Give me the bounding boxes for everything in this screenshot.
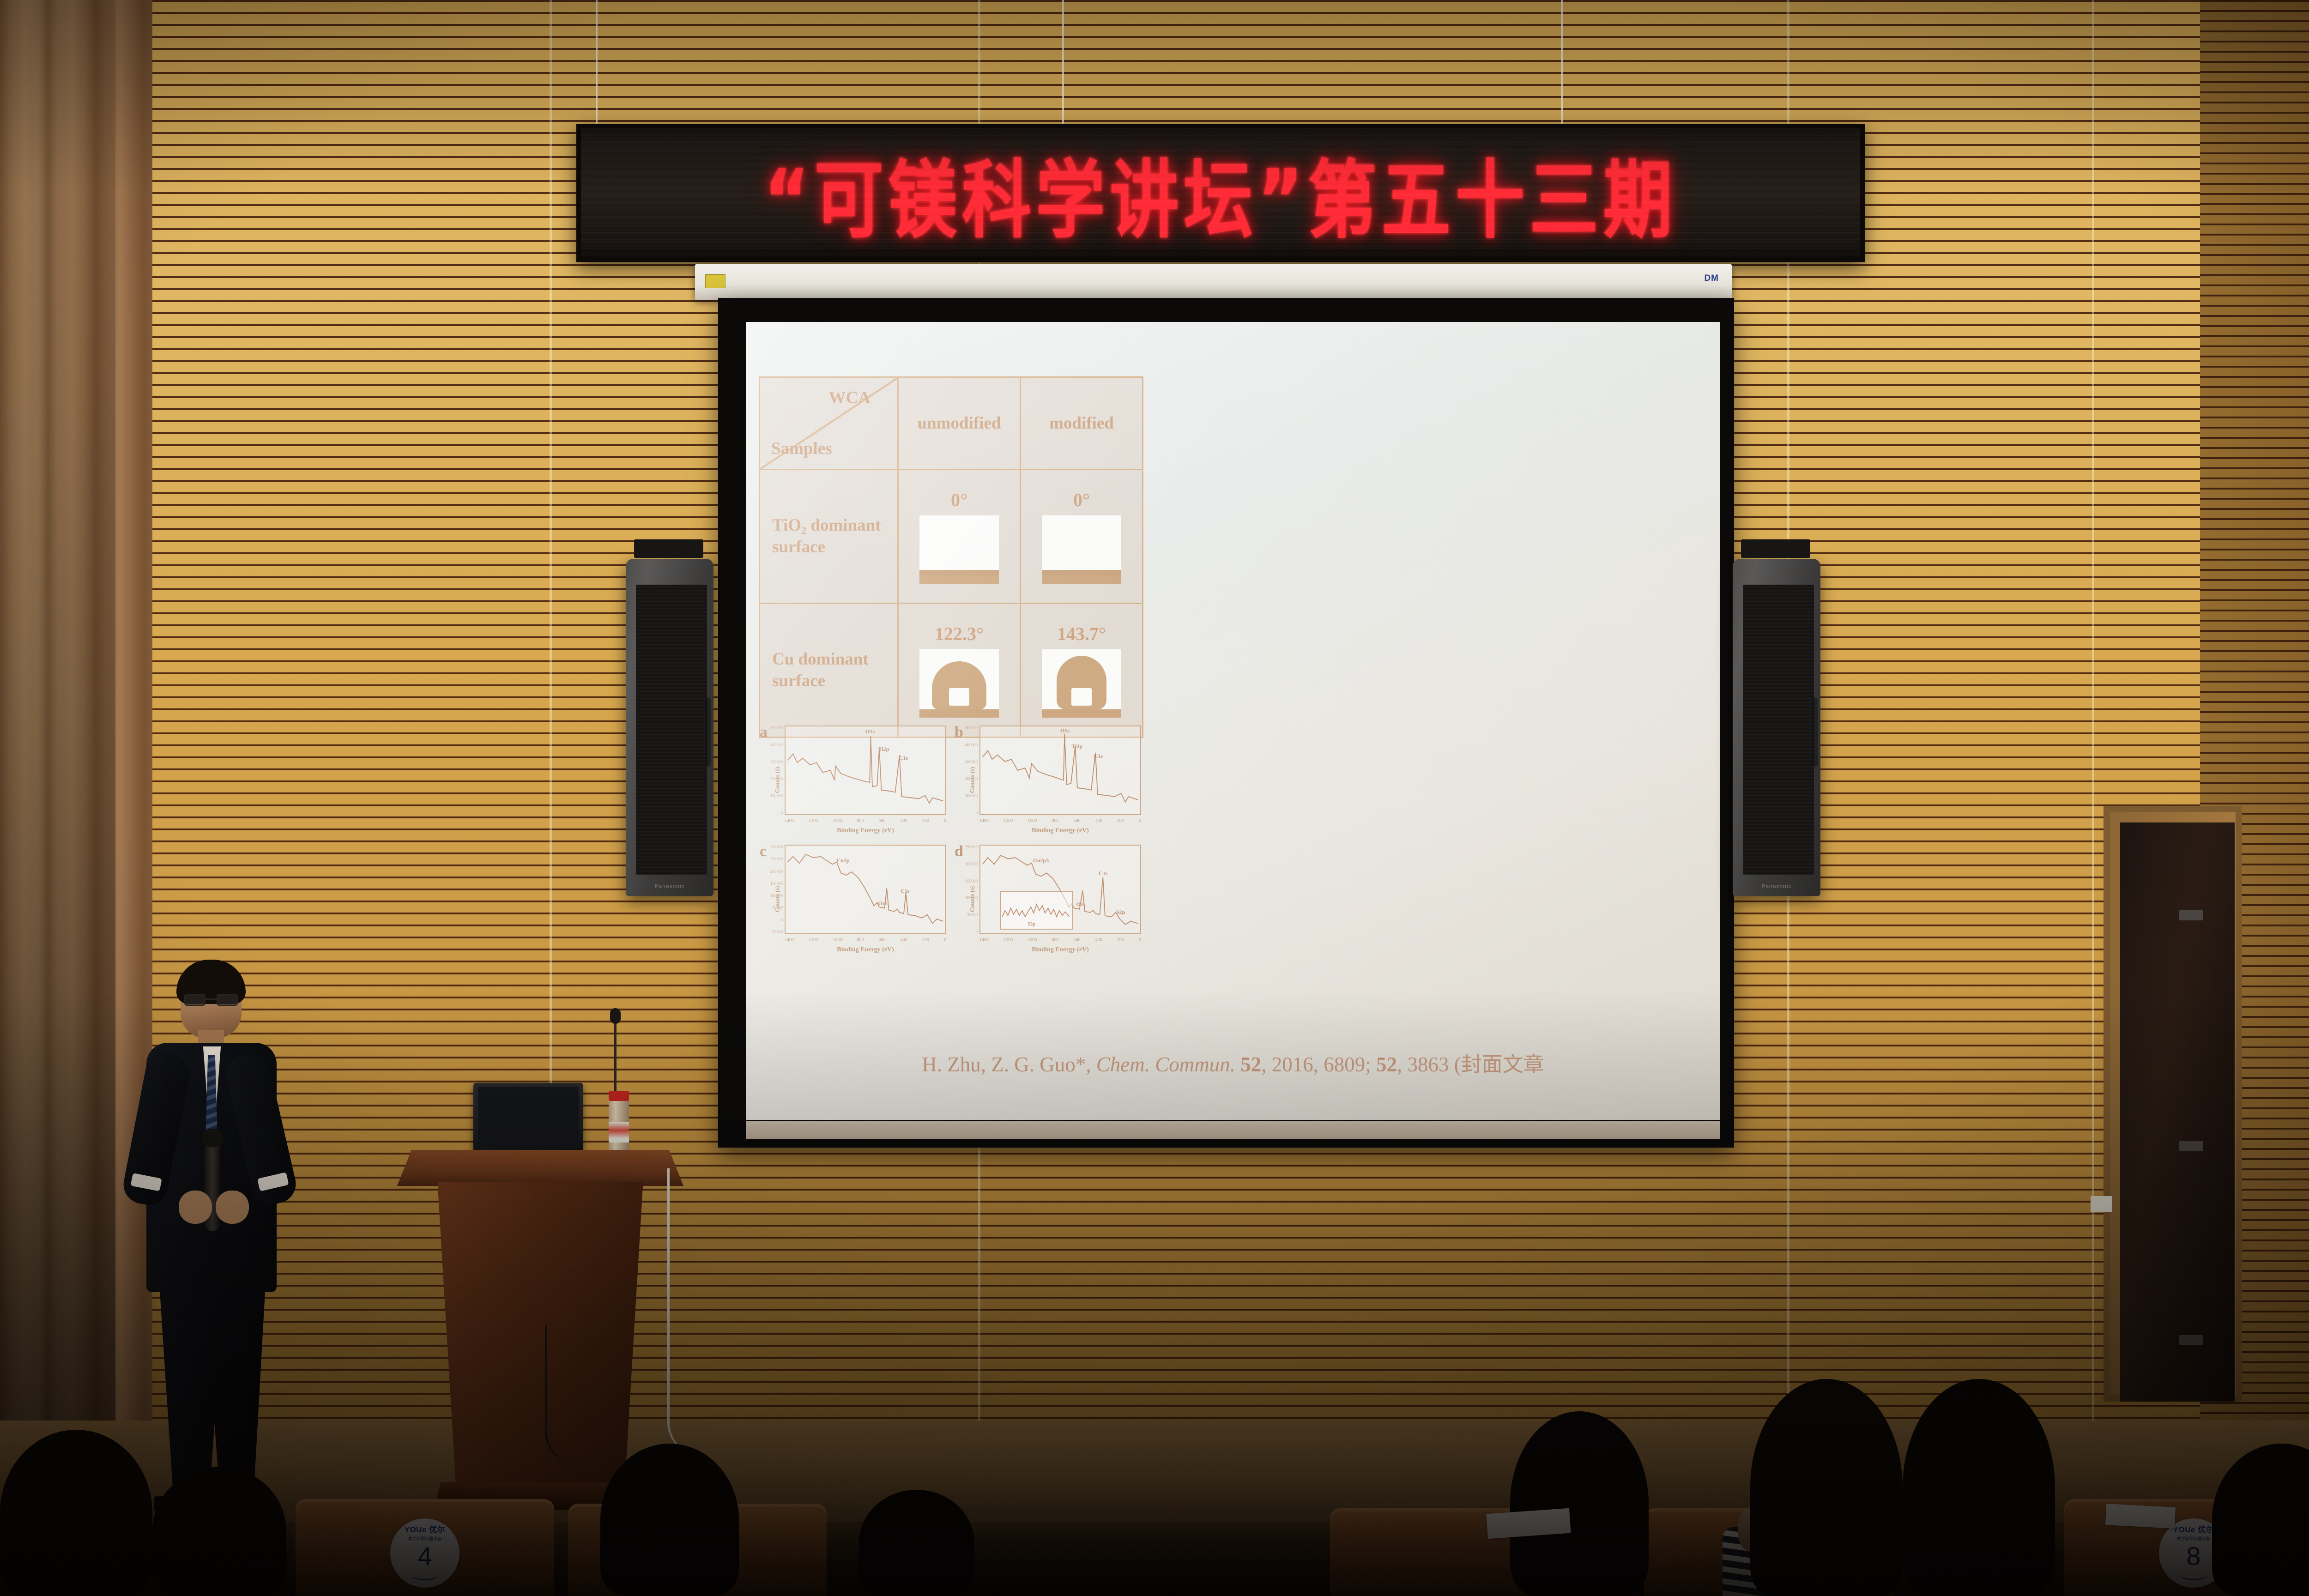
banner-suspension-wire: [596, 0, 598, 129]
podium-cable: [545, 1325, 600, 1464]
wall-speaker-right: Panasonic: [1733, 559, 1820, 896]
x-axis-label: Binding Energy (eV): [979, 827, 1141, 834]
door-hinge-icon: [2179, 1141, 2203, 1151]
contact-angle-value: 0°: [901, 489, 1018, 511]
peak-label-c1s: C1s: [899, 755, 908, 762]
spectrum-plot-area: O1s Ti2p C1s: [785, 725, 946, 815]
water-bottle: [609, 1099, 629, 1154]
podium-cable: [667, 1168, 718, 1455]
y-tick: 0: [781, 810, 783, 815]
citation-journal: Chem. Commun.: [1096, 1053, 1235, 1076]
sticker-subtitle: 教学科研仪器设备: [408, 1536, 441, 1542]
citation-mid: , 2016, 6809;: [1261, 1053, 1376, 1076]
peak-label-o1s: O1s: [865, 728, 875, 735]
y-tick: 100000: [965, 793, 978, 798]
x-tick: 600: [1074, 818, 1081, 823]
droplet-photo: [919, 515, 999, 584]
lens-left: [184, 994, 206, 1006]
wall-seam: [2092, 0, 2094, 1596]
shirt-cuff: [131, 1173, 162, 1191]
flat-film-icon: [919, 570, 999, 575]
x-tick: 400: [1095, 937, 1102, 943]
x-tick: 1200: [809, 937, 818, 943]
y-tick: 150000: [770, 881, 783, 886]
peak-label-ti2p: Ti2p: [878, 746, 889, 753]
y-tick: 100000: [770, 793, 783, 798]
presenter-head: [181, 965, 242, 1038]
table-header-row: WCA Samples unmodified modified: [760, 377, 1143, 470]
y-tick: 400000: [965, 743, 978, 747]
peak-label-cu2p: Cu2p: [837, 857, 850, 864]
x-tick: 800: [1052, 818, 1058, 823]
x-tick: 1000: [833, 937, 842, 943]
sticker-subtitle: 教学科研仪器设备: [2177, 1536, 2210, 1542]
wca-table: WCA Samples unmodified modified TiO₂ dom…: [759, 376, 1143, 738]
x-tick: 1400: [785, 937, 794, 943]
y-tick: -50000: [771, 930, 783, 934]
y-tick: 400000: [770, 743, 783, 747]
y-tick: 200000: [965, 776, 978, 781]
x-axis-ticks: 1400 1200 1000 800 600 400 200 0: [785, 937, 946, 943]
cell-tio2-unmodified: 0°: [898, 470, 1021, 604]
table-corner-cell: WCA Samples: [760, 377, 898, 470]
audience-head: [152, 1467, 286, 1596]
y-tick: 100000: [770, 893, 783, 898]
citation-authors: H. Zhu, Z. G. Guo*,: [922, 1053, 1096, 1076]
projection-screen-bottom-bar: [746, 1121, 1720, 1139]
door-hinge-icon: [2179, 910, 2203, 920]
table-row: TiO₂ dominant surface 0° 0°: [760, 470, 1143, 604]
needle-icon: [949, 688, 969, 706]
droplet-photo: [1042, 515, 1121, 584]
presenter: [95, 965, 335, 1510]
banner-suspension-wire: [1561, 0, 1563, 129]
sticker-brand: YOUe 优尔: [2173, 1526, 2214, 1535]
y-tick: 150000: [965, 879, 978, 883]
y-tick: 50000: [773, 905, 783, 910]
droplet-photo: [919, 649, 999, 718]
table-row: Cu dominant surface 122.3° 143.7°: [760, 604, 1143, 738]
y-tick: 250000: [770, 857, 783, 861]
shirt-cuff: [257, 1172, 289, 1191]
x-tick: 0: [1139, 937, 1141, 943]
presenter-hand-right: [216, 1191, 249, 1224]
x-axis-ticks: 1400 1200 1000 800 600 400 200 0: [979, 818, 1141, 823]
x-tick: 1200: [809, 818, 818, 823]
spectrum-plot-area: Cu2p O1s C1s: [785, 845, 946, 934]
xps-panel-c: c Counts (s) 300000 250000 200000 150000…: [760, 842, 948, 956]
speaker-brand-label: Panasonic: [626, 883, 713, 889]
x-tick: 1000: [1028, 937, 1037, 943]
x-tick: 1000: [833, 818, 842, 823]
column-header-modified: modified: [1021, 377, 1143, 470]
y-tick: 300000: [770, 760, 783, 764]
seat-number: 8: [2186, 1543, 2200, 1569]
xps-panel-b: b Counts (s) 500000 400000 300000 200000…: [955, 723, 1143, 837]
podium-body: [418, 1182, 663, 1505]
y-tick: 50000: [967, 913, 978, 917]
speaker-bracket: [634, 539, 703, 558]
cell-cu-unmodified: 122.3°: [898, 604, 1021, 738]
wall-speaker-left: Panasonic: [626, 559, 713, 896]
x-axis-ticks: 1400 1200 1000 800 600 400 200 0: [979, 937, 1141, 943]
x-tick: 400: [901, 818, 907, 823]
x-axis-ticks: 1400 1200 1000 800 600 400 200 0: [785, 818, 946, 823]
x-tick: 0: [1139, 818, 1141, 823]
x-tick: 600: [1074, 937, 1081, 943]
lens-right: [217, 994, 238, 1006]
row-label-tio2: TiO₂ dominant surface: [760, 470, 898, 604]
bottle-cap-icon: [609, 1091, 629, 1101]
x-tick: 200: [1117, 937, 1124, 943]
presentation-slide: WCA Samples unmodified modified TiO₂ dom…: [746, 322, 1720, 1120]
handout-paper: [2105, 1504, 2176, 1529]
x-tick: 1200: [1003, 937, 1013, 943]
droplet-photo: [1042, 649, 1121, 718]
x-tick: 1000: [1028, 818, 1037, 823]
spectrum-curve: [786, 726, 945, 814]
y-tick: 100000: [965, 895, 978, 900]
y-axis-ticks: 250000 200000 150000 100000 50000 0: [958, 845, 979, 934]
x-tick: 1400: [785, 818, 794, 823]
x-tick: 0: [944, 937, 946, 943]
audience-head: [859, 1490, 974, 1596]
needle-icon: [1071, 688, 1092, 706]
led-banner: “可镁科学讲坛”第五十三期: [576, 124, 1865, 262]
xps-panel-a: a Counts (s) 500000 400000 300000 200000…: [760, 723, 948, 837]
y-tick: 200000: [770, 776, 783, 781]
slide-citation: H. Zhu, Z. G. Guo*, Chem. Commun. 52, 20…: [746, 1047, 1720, 1077]
seat-number-sticker: YOUe 优尔 教学科研仪器设备 4: [390, 1518, 459, 1588]
projection-screen: WCA Samples unmodified modified TiO₂ dom…: [718, 298, 1734, 1148]
peak-label-c1s: C1s: [1099, 870, 1107, 877]
audience-hair: [1750, 1379, 1903, 1596]
door-wall-plate: [2091, 1196, 2112, 1212]
seat-back: YOUe 优尔 教学科研仪器设备 4: [296, 1499, 554, 1596]
room-door[interactable]: [2120, 822, 2235, 1402]
x-tick: 600: [879, 818, 886, 823]
x-tick: 200: [922, 818, 929, 823]
contact-angle-value: 0°: [1023, 489, 1140, 511]
banner-suspension-wire: [1062, 0, 1064, 129]
x-tick: 0: [944, 818, 946, 823]
speaker-grille: [636, 585, 707, 875]
smile-icon: [2180, 1570, 2207, 1580]
y-axis-ticks: 500000 400000 300000 200000 100000 0: [763, 725, 784, 815]
x-tick: 1400: [979, 818, 989, 823]
x-tick: 400: [1095, 818, 1102, 823]
y-tick: 500000: [770, 725, 783, 730]
speaker-port: [706, 697, 711, 767]
cell-cu-modified: 143.7°: [1021, 604, 1143, 738]
audience-head: [600, 1444, 739, 1596]
x-axis-label: Binding Energy (eV): [785, 946, 946, 954]
spectrum-curve: [786, 846, 945, 933]
inset-peak-label-s2p: S2p: [1028, 922, 1035, 927]
podium-top: [397, 1150, 683, 1186]
y-tick: 300000: [965, 760, 978, 764]
eyeglasses-icon: [184, 994, 238, 1006]
peak-label-o1s: O1s: [1076, 901, 1086, 908]
presenter-hand-left: [179, 1191, 212, 1224]
x-tick: 400: [901, 937, 907, 943]
x-tick: 1200: [1003, 818, 1013, 823]
inset-curve: [1001, 892, 1072, 929]
podium-laptop[interactable]: [473, 1083, 583, 1152]
y-tick: 0: [976, 930, 978, 934]
x-axis-label: Binding Energy (eV): [785, 827, 946, 834]
peak-label-ti2p: Ti2p: [1071, 743, 1082, 750]
glasses-bridge: [206, 998, 217, 1000]
corner-col-label: WCA: [829, 388, 870, 408]
projector-screen-roller-housing: DM: [695, 264, 1732, 300]
y-axis-ticks: 300000 250000 200000 150000 100000 50000…: [763, 845, 784, 934]
microphone-icon: [610, 1008, 621, 1024]
contact-angle-value: 143.7°: [1023, 623, 1140, 645]
cell-tio2-modified: 0°: [1021, 470, 1143, 604]
y-tick: 200000: [770, 869, 783, 874]
x-tick: 1400: [979, 937, 989, 943]
audience-head: [1510, 1411, 1649, 1596]
bottle-label: [609, 1122, 629, 1143]
xps-spectra-grid: a Counts (s) 500000 400000 300000 200000…: [760, 723, 1143, 956]
spectrum-plot-area: S2p Cu2p3 O1s C1s S2p: [979, 845, 1141, 934]
x-tick: 800: [857, 937, 864, 943]
speaker-brand-label: Panasonic: [1733, 883, 1820, 889]
column-header-unmodified: unmodified: [898, 377, 1021, 470]
speaker-grille: [1743, 585, 1814, 875]
peak-label-c1s: C1s: [901, 888, 909, 895]
peak-label-o1s: O1s: [878, 900, 888, 907]
corner-row-label: Samples: [771, 439, 832, 459]
projection-screen-surface: WCA Samples unmodified modified TiO₂ dom…: [746, 322, 1720, 1120]
door-hinge-icon: [2179, 1335, 2203, 1345]
x-tick: 800: [1052, 937, 1058, 943]
y-tick: 500000: [965, 725, 978, 730]
speaker-bracket: [1741, 539, 1810, 558]
citation-volume-1: 52: [1240, 1053, 1261, 1076]
room-door-frame: [2103, 806, 2242, 1402]
contact-angle-value: 122.3°: [901, 623, 1018, 645]
smile-icon: [411, 1570, 438, 1580]
x-tick: 200: [1117, 818, 1124, 823]
y-tick: 0: [781, 918, 783, 922]
sticker-brand: YOUe 优尔: [405, 1526, 446, 1535]
x-tick: 600: [879, 937, 886, 943]
laptop-screen: [478, 1087, 579, 1147]
audience-member-with-glasses: [1750, 1379, 1903, 1596]
row-label-cu: Cu dominant surface: [760, 604, 898, 738]
peak-label-o1s: O1s: [1060, 727, 1070, 734]
spectrum-curve: [980, 726, 1140, 814]
spectrum-plot-area: O1s Ti2p C1s: [979, 725, 1141, 815]
peak-label-s2p: S2p: [1116, 909, 1125, 916]
seat-number: 4: [417, 1543, 432, 1569]
roller-brand-label: DM: [1704, 273, 1719, 284]
inset-plot: S2p: [1000, 891, 1073, 930]
peak-label-cu2p3: Cu2p3: [1033, 857, 1049, 864]
y-axis-ticks: 500000 400000 300000 200000 100000 0: [958, 725, 979, 815]
audience-head: [1903, 1379, 2055, 1596]
x-axis-label: Binding Energy (eV): [979, 946, 1141, 954]
citation-tail: , 3863 (封面文章: [1397, 1053, 1544, 1076]
y-tick: 0: [976, 810, 978, 815]
citation-volume-2: 52: [1376, 1053, 1397, 1076]
y-tick: 200000: [965, 862, 978, 866]
x-tick: 200: [922, 937, 929, 943]
audience-head: [0, 1430, 152, 1596]
warning-label-icon: [705, 274, 725, 288]
led-banner-text: “可镁科学讲坛”第五十三期: [764, 132, 1677, 254]
speaker-port: [1813, 697, 1818, 767]
xps-panel-d: d Counts (s) 250000 200000 150000 100000…: [955, 842, 1143, 956]
flat-film-icon: [1042, 570, 1121, 575]
microphone-head-icon: [202, 1129, 223, 1147]
peak-label-c1s: C1s: [1094, 753, 1103, 760]
y-tick: 250000: [965, 845, 978, 849]
y-tick: 300000: [770, 845, 783, 849]
x-tick: 800: [857, 818, 864, 823]
